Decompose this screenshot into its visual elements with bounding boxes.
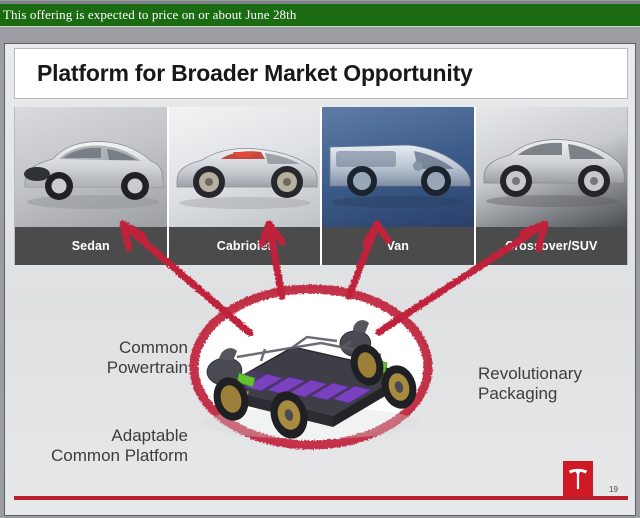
platform-highlight-ellipse [194, 289, 428, 445]
page-number: 19 [609, 485, 618, 494]
annotation-common-powertrain: Common Powertrain [5, 338, 188, 378]
skateboard-chassis-icon [203, 320, 421, 443]
vehicle-cell-sedan: Sedan [15, 107, 167, 265]
vehicle-cell-van: Van [320, 107, 474, 265]
crossover-suv-car-icon [476, 107, 628, 227]
vehicle-cell-cabriolet: Cabriolet [167, 107, 321, 265]
sedan-car-icon [15, 107, 167, 227]
offering-notice-banner: This offering is expected to price on or… [0, 3, 640, 27]
front-drive-unit [340, 320, 407, 385]
slide-screenshot: This offering is expected to price on or… [0, 0, 640, 518]
chassis-wheels [209, 340, 422, 443]
vehicle-label-sedan: Sedan [15, 227, 167, 265]
presentation-slide: Platform for Broader Market Opportunity [4, 43, 636, 516]
vehicle-variant-strip: Sedan [14, 107, 628, 265]
annotation-adaptable-common-platform: Adaptable Common Platform [5, 426, 188, 466]
annotation-revolutionary-packaging: Revolutionary Packaging [478, 364, 636, 404]
slide-title-card: Platform for Broader Market Opportunity [14, 48, 628, 99]
vehicle-cell-crossover: Crossover/SUV [474, 107, 628, 265]
page-title: Platform for Broader Market Opportunity [15, 60, 473, 87]
cabriolet-car-icon [169, 107, 321, 227]
vehicle-label-van: Van [322, 227, 474, 265]
vehicle-label-crossover: Crossover/SUV [476, 227, 628, 265]
vehicle-label-cabriolet: Cabriolet [169, 227, 321, 265]
battery-pack [245, 374, 371, 403]
van-car-icon [322, 107, 474, 227]
rear-drive-unit [207, 348, 255, 398]
footer-rule [14, 496, 628, 500]
tesla-logo [563, 461, 593, 496]
offering-notice-text: This offering is expected to price on or… [0, 7, 296, 23]
